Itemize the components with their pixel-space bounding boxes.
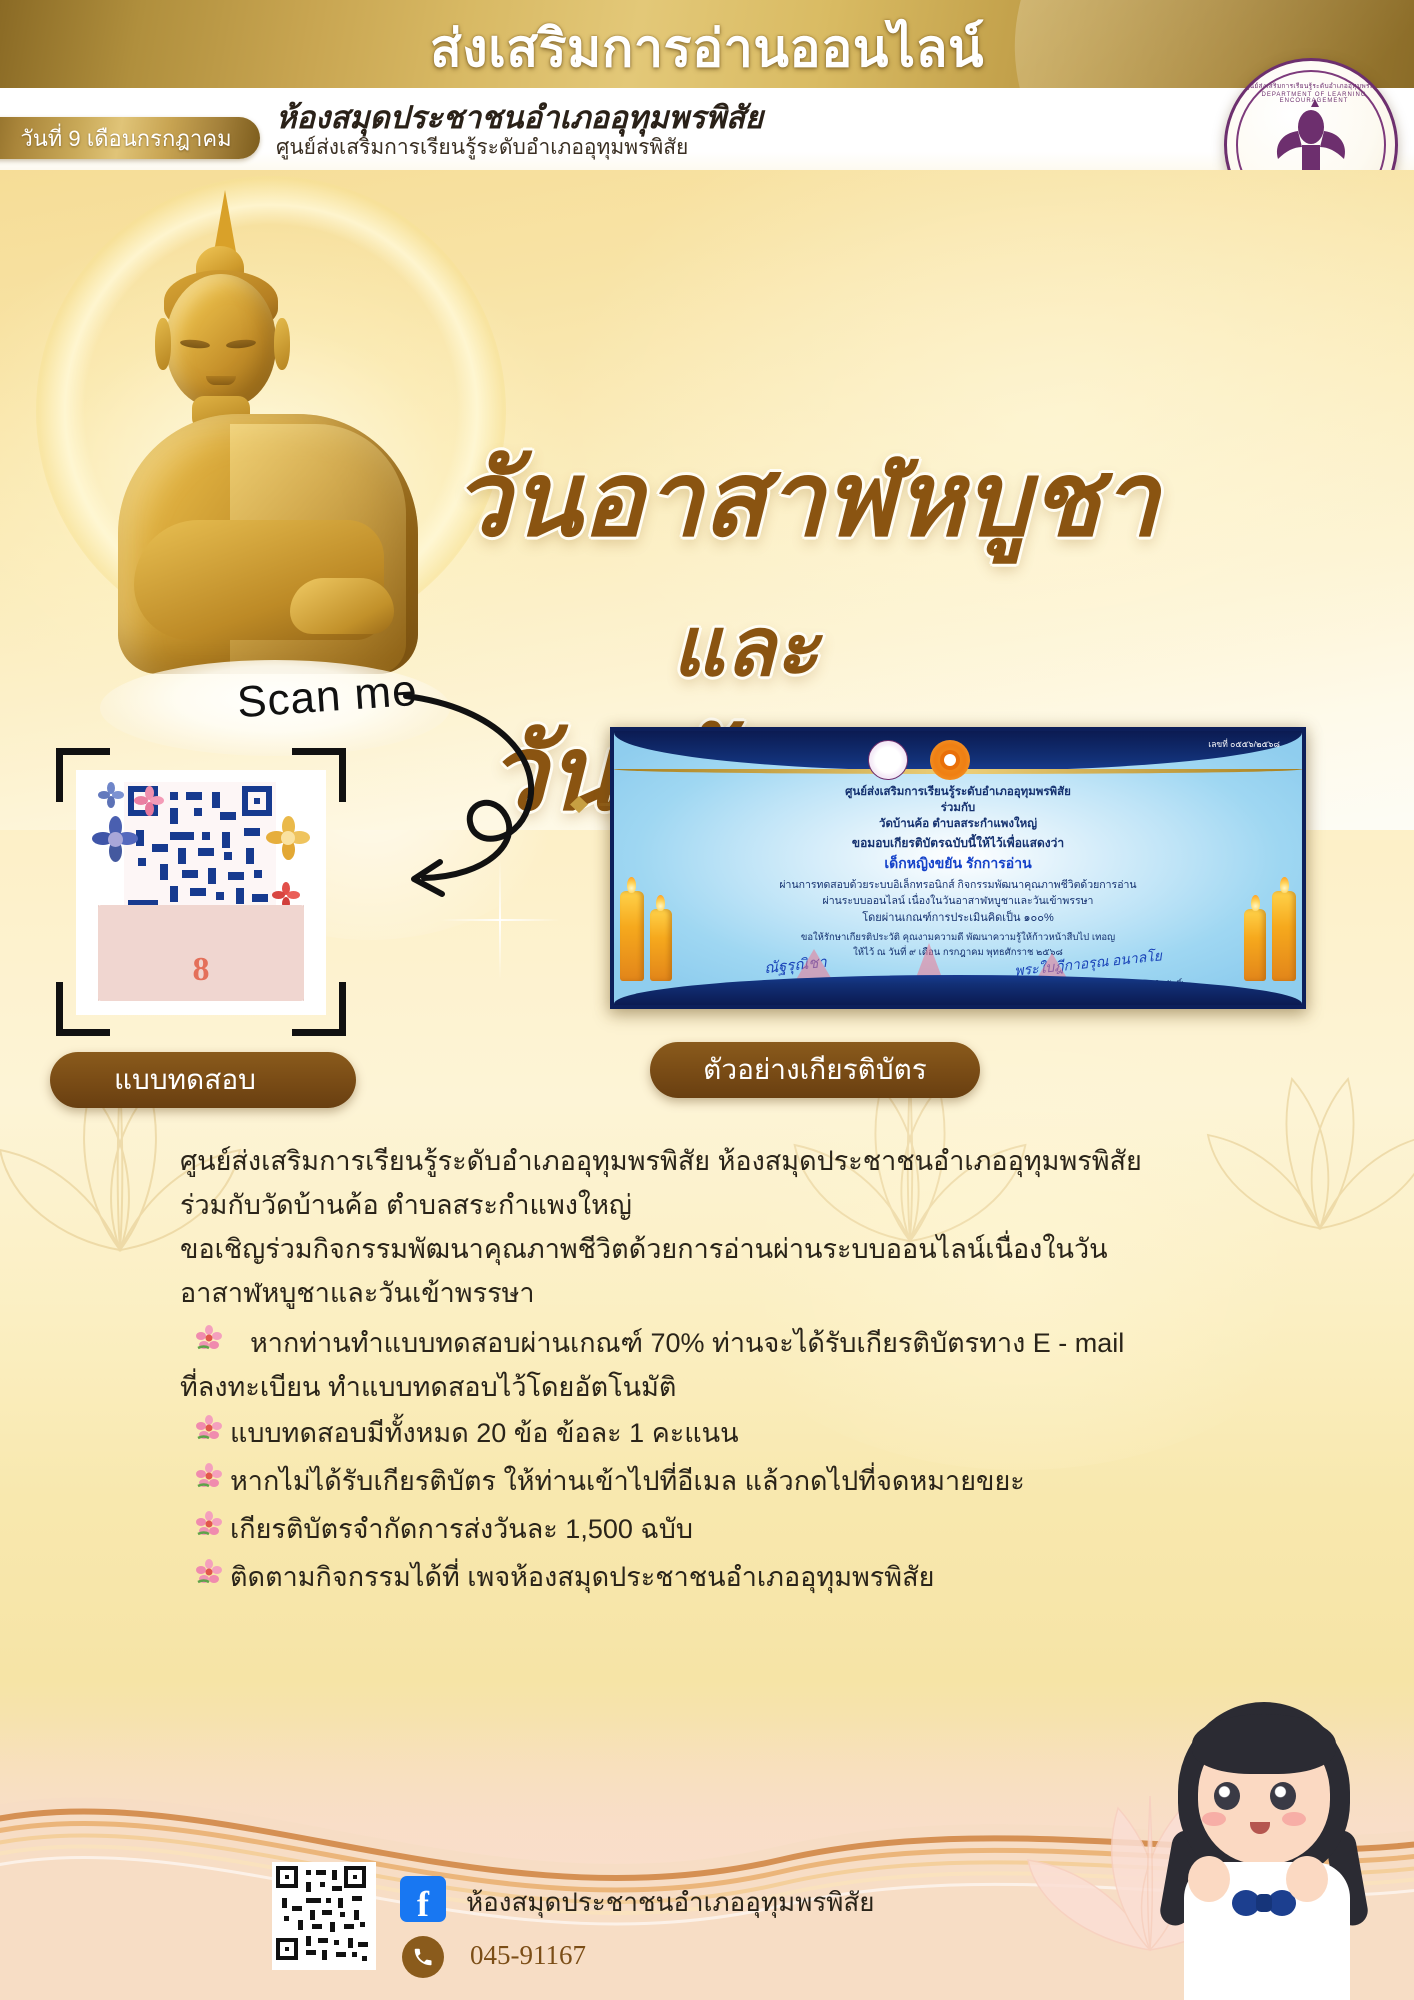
certificate-seal-icon [868, 740, 908, 780]
girl-hand-right [1286, 1856, 1328, 1902]
flower-pink [134, 786, 164, 816]
test-button-label: แบบทดสอบ [114, 1058, 256, 1102]
date-badge-label: วันที่ 9 เดือนกรกฎาคม [0, 117, 260, 159]
buddha-ear-right [274, 318, 290, 370]
qr-finder-tr [242, 786, 272, 816]
flower-bullet-icon [196, 1559, 222, 1585]
qr-envelope-card[interactable]: 8 [76, 770, 326, 1015]
phone-number: 045-91167 [470, 1940, 586, 1971]
girl-hand-left [1188, 1856, 1230, 1902]
candle-right-1 [1272, 891, 1296, 981]
certificate-sample-button[interactable]: ตัวอย่างเกียรติบัตร [650, 1042, 980, 1098]
certificate-recipient-name: เด็กหญิงขยัน รักการอ่าน [614, 853, 1302, 875]
girl-eye-left [1214, 1782, 1240, 1810]
candle-flame-right-1 [1280, 877, 1289, 893]
certificate-line-10: ให้ไว้ ณ วันที่ ๙ เดือน กรกฎาคม พุทธศักร… [614, 945, 1302, 960]
date-badge: วันที่ 9 เดือนกรกฎาคม [0, 117, 260, 159]
intro-line-4: อาสาฬหบูชาและวันเข้าพรรษา [180, 1271, 535, 1314]
hero-title-line1: วันอาสาฬหบูชา [452, 416, 1159, 581]
list-item-label: หากไม่ได้รับเกียรติบัตร ให้ท่านเข้าไปที่… [230, 1459, 1025, 1502]
candle-flame-right-2 [1251, 895, 1260, 911]
candle-left-2 [650, 909, 672, 981]
intro-line-2: ร่วมกับวัดบ้านค้อ ตำบลสระกำแพงใหญ่ [180, 1183, 632, 1226]
divider-diamond-1 [570, 796, 588, 813]
footer-qr-finder-tl [276, 1866, 298, 1888]
certificate-sample-button-label: ตัวอย่างเกียรติบัตร [703, 1048, 927, 1092]
buddha-mouth [206, 376, 236, 385]
certificate-line-3: วัดบ้านค้อ ตำบลสระกำแพงใหญ่ [614, 815, 1302, 833]
footer-qr-code[interactable] [272, 1862, 376, 1970]
candle-flame-left-2 [656, 895, 665, 911]
certificate-line-6: ผ่านการทดสอบด้วยระบบอิเล็กทรอนิกส์ กิจกร… [614, 876, 1302, 893]
certificate-preview[interactable]: เลขที่ ๐๕๕๖/๒๕๖๘ ศูนย์ส่งเสริมการเรียนรู… [610, 727, 1306, 1009]
list-item-label: ติดตามกิจกรรมได้ที่ เพจห้องสมุดประชาชนอำ… [230, 1555, 934, 1598]
footer-qr-finder-tr [344, 1866, 366, 1888]
list-item-label: เกียรติบัตรจำกัดการส่งวันละ 1,500 ฉบับ [230, 1507, 693, 1550]
flower-bullet-icon [196, 1415, 222, 1441]
certificate-line-8: โดยผ่านเกณฑ์การประเมินคิดเป็น ๑๐๐% [614, 908, 1302, 926]
flower-blue [98, 782, 124, 808]
footer-qr-finder-bl [276, 1938, 298, 1960]
intro-line-1: ศูนย์ส่งเสริมการเรียนรู้ระดับอำเภออุทุมพ… [180, 1139, 1142, 1182]
flower-bullet-icon [196, 1511, 222, 1537]
qr-scan-frame[interactable]: 8 [56, 748, 346, 1036]
envelope-number: 8 [76, 951, 326, 989]
girl-eye-right [1270, 1782, 1296, 1810]
flower-bullet-icon [196, 1325, 222, 1351]
facebook-page-name: ห้องสมุดประชาชนอำเภออุทุมพรพิสัย [466, 1882, 875, 1923]
flower-purple [92, 816, 138, 862]
buddha-hand [290, 578, 394, 634]
girl-cheek-right [1282, 1812, 1306, 1826]
bullet-1-continuation: ที่ลงทะเบียน ทำแบบทดสอบไว้โดยอัตโนมัติ [180, 1365, 676, 1408]
certificate-line-4: ขอมอบเกียรติบัตรฉบับนี้ให้ไว้เพื่อแสดงว่… [614, 834, 1302, 853]
facebook-icon[interactable]: f [400, 1876, 446, 1922]
girl-fringe [1192, 1714, 1336, 1774]
girl-bow-knot [1256, 1894, 1272, 1912]
test-button[interactable]: แบบทดสอบ [50, 1052, 356, 1108]
phone-icon [402, 1936, 444, 1978]
curved-arrow-icon [348, 690, 558, 920]
banner-title: ส่งเสริมการอ่านออนไลน์ [0, 6, 1414, 89]
certificate-inner: เลขที่ ๐๕๕๖/๒๕๖๘ ศูนย์ส่งเสริมการเรียนรู… [614, 731, 1302, 1005]
candle-left-1 [620, 891, 644, 981]
list-item-label: หากท่านทำแบบทดสอบผ่านเกณฑ์ 70% ท่านจะได้… [250, 1321, 1124, 1364]
certificate-line-9: ขอให้รักษาเกียรติประวัติ คุณงามความดี พั… [614, 930, 1302, 945]
organization-subtitle: ศูนย์ส่งเสริมการเรียนรู้ระดับอำเภออุทุมพ… [276, 131, 688, 164]
poster-root: ส่งเสริมการอ่านออนไลน์ ห้องสมุดประชาชนอำ… [0, 0, 1414, 2000]
intro-line-3: ขอเชิญร่วมกิจกรรมพัฒนาคุณภาพชีวิตด้วยการ… [180, 1227, 1108, 1270]
candle-right-2 [1244, 909, 1266, 981]
candle-flame-left-1 [627, 877, 636, 893]
flower-orange [266, 816, 310, 860]
certificate-line-7: ผ่านระบบออนไลน์ เนื่องในวันอาสาฬหบูชาและ… [614, 892, 1302, 909]
lotus-outline-right [1180, 1010, 1414, 1260]
buddha-ear-left [155, 318, 171, 370]
seal-top-text: ศูนย์ส่งเสริมการเรียนรู้ระดับอำเภออุทุมพ… [1227, 81, 1398, 91]
buddha-flame [214, 190, 236, 252]
certificate-number: เลขที่ ๐๕๕๖/๒๕๖๘ [1208, 737, 1280, 751]
list-item-label: แบบทดสอบมีทั้งหมด 20 ข้อ ข้อละ 1 คะแนน [230, 1411, 739, 1454]
girl-mascot-illustration [1136, 1680, 1396, 2000]
dharma-wheel-icon [930, 740, 970, 780]
girl-cheek-left [1202, 1812, 1226, 1826]
flower-bullet-icon [196, 1463, 222, 1489]
